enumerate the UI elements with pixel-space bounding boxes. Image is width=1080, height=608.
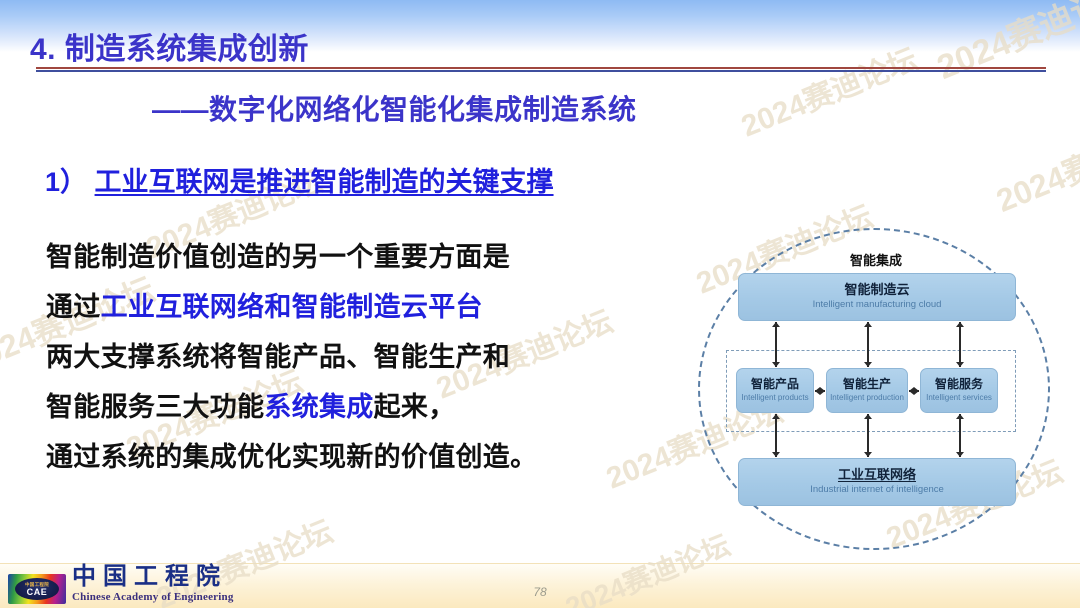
body-plain-text: 起来， <box>374 392 456 422</box>
box-cn-label: 智能产品 <box>751 377 799 392</box>
box-cn-label: 智能服务 <box>935 377 983 392</box>
arrow-production-to-network <box>867 414 869 457</box>
box-intelligent-manufacturing-cloud: 智能制造云 Intelligent manufacturing cloud <box>738 273 1016 321</box>
cae-emblem-icon: 中国工程院 CAE <box>8 574 66 604</box>
body-highlight-text: 系统集成 <box>264 392 373 422</box>
section-heading: 1） 工业互联网是推进智能制造的关键支撑 <box>45 160 554 199</box>
body-line: 通过工业互联网络和智能制造云平台 <box>46 282 706 332</box>
page-number: 78 <box>533 585 546 599</box>
body-highlight-text: 工业互联网络和智能制造云平台 <box>101 292 483 322</box>
box-intelligent-products: 智能产品 Intelligent products <box>736 368 814 413</box>
body-plain-text: 智能制造价值创造的另一个重要方面是 <box>46 242 510 272</box>
title-rule-blue <box>36 70 1046 72</box>
section-heading-number: 1） <box>45 167 87 197</box>
box-intelligent-services: 智能服务 Intelligent services <box>920 368 998 413</box>
body-plain-text: 通过 <box>46 292 101 322</box>
intelligent-integration-diagram: 智能集成 智能制造云 Intelligent manufacturing clo… <box>690 218 1062 558</box>
body-line: 智能服务三大功能系统集成起来， <box>46 382 706 432</box>
body-plain-text: 两大支撑系统将智能产品、智能生产和 <box>46 342 510 372</box>
box-en-label: Intelligent products <box>741 393 808 403</box>
title-main-text: 4. 制造系统集成创新 <box>30 34 1050 66</box>
title-rule-red <box>36 67 1046 69</box>
arrow-products-to-network <box>775 414 777 457</box>
body-plain-text: 智能服务三大功能 <box>46 392 264 422</box>
arrow-production-services <box>909 390 919 392</box>
body-paragraph: 智能制造价值创造的另一个重要方面是通过工业互联网络和智能制造云平台两大支撑系统将… <box>46 232 706 482</box>
body-plain-text: 通过系统的集成优化实现新的价值创造。 <box>46 442 537 472</box>
box-en-label: Intelligent manufacturing cloud <box>813 299 942 311</box>
box-cn-label: 智能制造云 <box>844 282 909 298</box>
cae-emblem-en-label: CAE <box>27 588 48 597</box>
box-en-label: Industrial internet of intelligence <box>810 484 944 496</box>
watermark-text: 2024赛迪论坛 <box>989 104 1080 221</box>
footer-org-text: 中国工程院 Chinese Academy of Engineering <box>72 564 234 604</box>
arrow-cloud-to-production <box>867 322 869 367</box>
footer-org-en: Chinese Academy of Engineering <box>72 591 234 604</box>
body-line: 两大支撑系统将智能产品、智能生产和 <box>46 332 706 382</box>
arrow-services-to-network <box>959 414 961 457</box>
box-en-label: Intelligent production <box>830 393 904 403</box>
box-intelligent-production: 智能生产 Intelligent production <box>826 368 908 413</box>
diagram-circle-label: 智能集成 <box>690 250 1062 269</box>
arrow-products-production <box>815 390 825 392</box>
slide-canvas: 2024赛迪论坛 2024赛迪论坛 2024赛迪论坛 2024赛迪论坛 2024… <box>0 0 1080 608</box>
footer-logo: 中国工程院 CAE 中国工程院 Chinese Academy of Engin… <box>8 564 234 604</box>
body-line: 通过系统的集成优化实现新的价值创造。 <box>46 432 706 482</box>
box-cn-label: 智能生产 <box>843 377 891 392</box>
footer-org-cn: 中国工程院 <box>72 564 234 590</box>
cae-emblem-ellipse: 中国工程院 CAE <box>15 578 59 600</box>
page-title: 4. 制造系统集成创新 <box>30 34 1050 66</box>
box-en-label: Intelligent services <box>926 393 992 403</box>
section-heading-label: 工业互联网是推进智能制造的关键支撑 <box>95 167 554 197</box>
box-industrial-internet: 工业互联网络 Industrial internet of intelligen… <box>738 458 1016 506</box>
box-cn-label: 工业互联网络 <box>838 467 916 483</box>
title-subtitle-text: ——数字化网络化智能化集成制造系统 <box>152 88 637 128</box>
arrow-cloud-to-products <box>775 322 777 367</box>
body-line: 智能制造价值创造的另一个重要方面是 <box>46 232 706 282</box>
arrow-cloud-to-services <box>959 322 961 367</box>
